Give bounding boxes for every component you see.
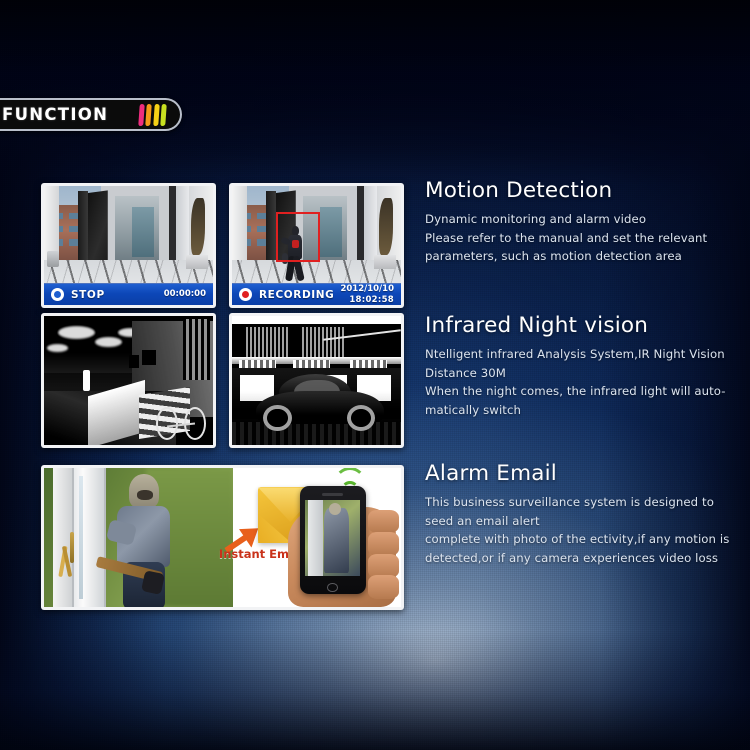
scene-elevator [320, 207, 342, 257]
smartphone [300, 486, 366, 594]
timestamp-date: 2012/10/10 [340, 284, 394, 294]
timestamp-time: 18:02:58 [349, 295, 394, 305]
feature-title-infrared-night-vision: Infrared Night vision [425, 313, 743, 338]
hand-holding-phone [283, 468, 401, 607]
scene-balcony-ornament-right [300, 324, 344, 358]
scene-plinth [374, 255, 396, 269]
scene-sculpture [379, 198, 393, 255]
function-banner: FUNCTION [0, 98, 182, 131]
intruder-face-opening [137, 490, 154, 501]
photo-door-glass [79, 476, 83, 598]
stop-dot-icon [51, 288, 64, 301]
status-label-stop: STOP [71, 289, 105, 301]
hand-finger [368, 532, 399, 556]
scene-cloud [95, 337, 122, 347]
phone-screen-intruder [324, 508, 349, 573]
panel-alarm-email: Instant Email [41, 465, 404, 610]
scene-window [129, 355, 139, 368]
feature-title-alarm-email: Alarm Email [425, 461, 743, 486]
status-timer: 00:00:00 [164, 289, 206, 300]
intruder-photo [44, 468, 233, 607]
night-scene-alley [44, 316, 213, 445]
scene-bin [47, 251, 59, 266]
feature-body-alarm-email: This business surveillance system is des… [425, 493, 743, 567]
color-bar-3 [153, 104, 160, 126]
photo-masked-intruder [106, 474, 182, 607]
feature-title-motion-detection: Motion Detection [425, 178, 743, 203]
scene-elevator [132, 207, 154, 257]
color-bar-1 [138, 104, 145, 126]
status-bar-recording: RECORDING 2012/10/10 18:02:58 [232, 283, 401, 305]
function-banner-bars [139, 104, 167, 126]
function-banner-label: FUNCTION [2, 105, 108, 124]
panel-night-vision-alley-image [44, 316, 213, 445]
scene-vintage-car [256, 373, 384, 430]
phone-home-button [327, 583, 338, 592]
bicycle-wheel-front [156, 407, 178, 440]
scene-plinth [186, 255, 208, 269]
feature-body-infrared-night-vision: Ntelligent infrared Analysis System,IR N… [425, 345, 743, 419]
color-bar-2 [145, 104, 152, 126]
status-label-recording: RECORDING [259, 289, 334, 301]
panel-motion-recording-image: RECORDING 2012/10/10 18:02:58 [232, 186, 401, 305]
feature-alarm-email: Alarm Email This business surveillance s… [425, 461, 743, 567]
status-timestamp: 2012/10/10 18:02:58 [340, 284, 394, 305]
scene-cloud [58, 326, 95, 339]
panel-motion-recording: RECORDING 2012/10/10 18:02:58 [229, 183, 404, 308]
scene-sculpture [191, 198, 205, 255]
scene-dark-column [357, 186, 364, 269]
motion-detection-box [276, 212, 320, 262]
scene-window [142, 350, 156, 365]
status-bar-stop: STOP 00:00:00 [44, 283, 213, 305]
scene-window-bars [183, 319, 210, 381]
phone-screen-door [308, 500, 322, 576]
car-wheel-rear [347, 405, 375, 431]
panel-night-vision-alley [41, 313, 216, 448]
alarm-email-illustration: Instant Email [44, 468, 401, 607]
panel-alarm-email-image: Instant Email [44, 468, 401, 607]
feature-infrared-night-vision: Infrared Night vision Ntelligent infrare… [425, 313, 743, 419]
photo-door-panel [72, 468, 106, 607]
photo-keys-icon [61, 546, 70, 577]
panel-night-vision-street-image [232, 316, 401, 445]
color-bar-4 [160, 104, 167, 126]
scene-balcony-ornament-left [244, 324, 288, 358]
scene-distant-figure [83, 370, 90, 391]
night-scene-street [232, 316, 401, 445]
panel-motion-stop-image: STOP 00:00:00 [44, 186, 213, 305]
record-dot-icon [239, 288, 252, 301]
phone-screen [305, 500, 360, 576]
hand-finger [368, 575, 399, 599]
panel-night-vision-street [229, 313, 404, 448]
scene-bicycle [156, 401, 207, 440]
panel-motion-stop: STOP 00:00:00 [41, 183, 216, 308]
phone-speaker [322, 493, 343, 497]
feature-motion-detection: Motion Detection Dynamic monitoring and … [425, 178, 743, 266]
feature-body-motion-detection: Dynamic monitoring and alarm videoPlease… [425, 210, 743, 266]
car-wheel-front [263, 405, 291, 431]
hand-finger [368, 510, 399, 534]
scene-dark-column [169, 186, 176, 269]
scene-cloud [47, 344, 67, 352]
